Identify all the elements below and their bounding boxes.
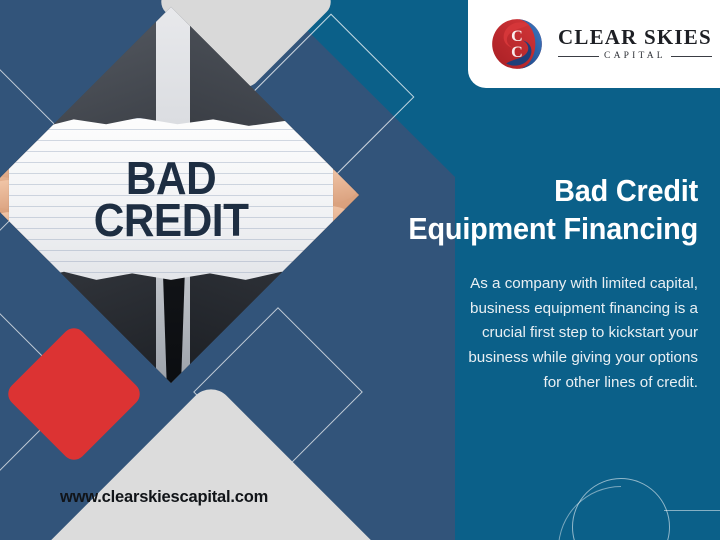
logo-rule-right: [671, 56, 712, 57]
logo-rule-left: [558, 56, 599, 57]
photo-sign-line2: CREDIT: [94, 199, 249, 241]
advertisement-banner: BAD CREDIT www.clearskiescapital.com: [0, 0, 720, 540]
logo-tagline-row: CAPITAL: [558, 51, 712, 61]
logo-wordmark: CLEAR SKIES CAPITAL: [558, 27, 712, 61]
photo-sign-line1: BAD: [126, 157, 216, 199]
headline-line-1: Bad Credit: [307, 172, 698, 210]
logo-badge[interactable]: C C CLEAR SKIES CAPITAL: [468, 0, 720, 88]
svg-text:C: C: [511, 27, 523, 45]
svg-text:C: C: [511, 43, 523, 61]
body-paragraph: As a company with limited capital, busin…: [448, 272, 698, 395]
website-url[interactable]: www.clearskiescapital.com: [60, 488, 360, 507]
logo-tagline: CAPITAL: [604, 51, 666, 61]
clear-skies-emblem-icon: C C: [490, 17, 544, 71]
headline-line-2: Equipment Financing: [307, 210, 698, 248]
logo-company-name: CLEAR SKIES: [558, 27, 712, 48]
headline: Bad Credit Equipment Financing: [278, 172, 698, 249]
decor-horizontal-rule: [664, 510, 720, 511]
